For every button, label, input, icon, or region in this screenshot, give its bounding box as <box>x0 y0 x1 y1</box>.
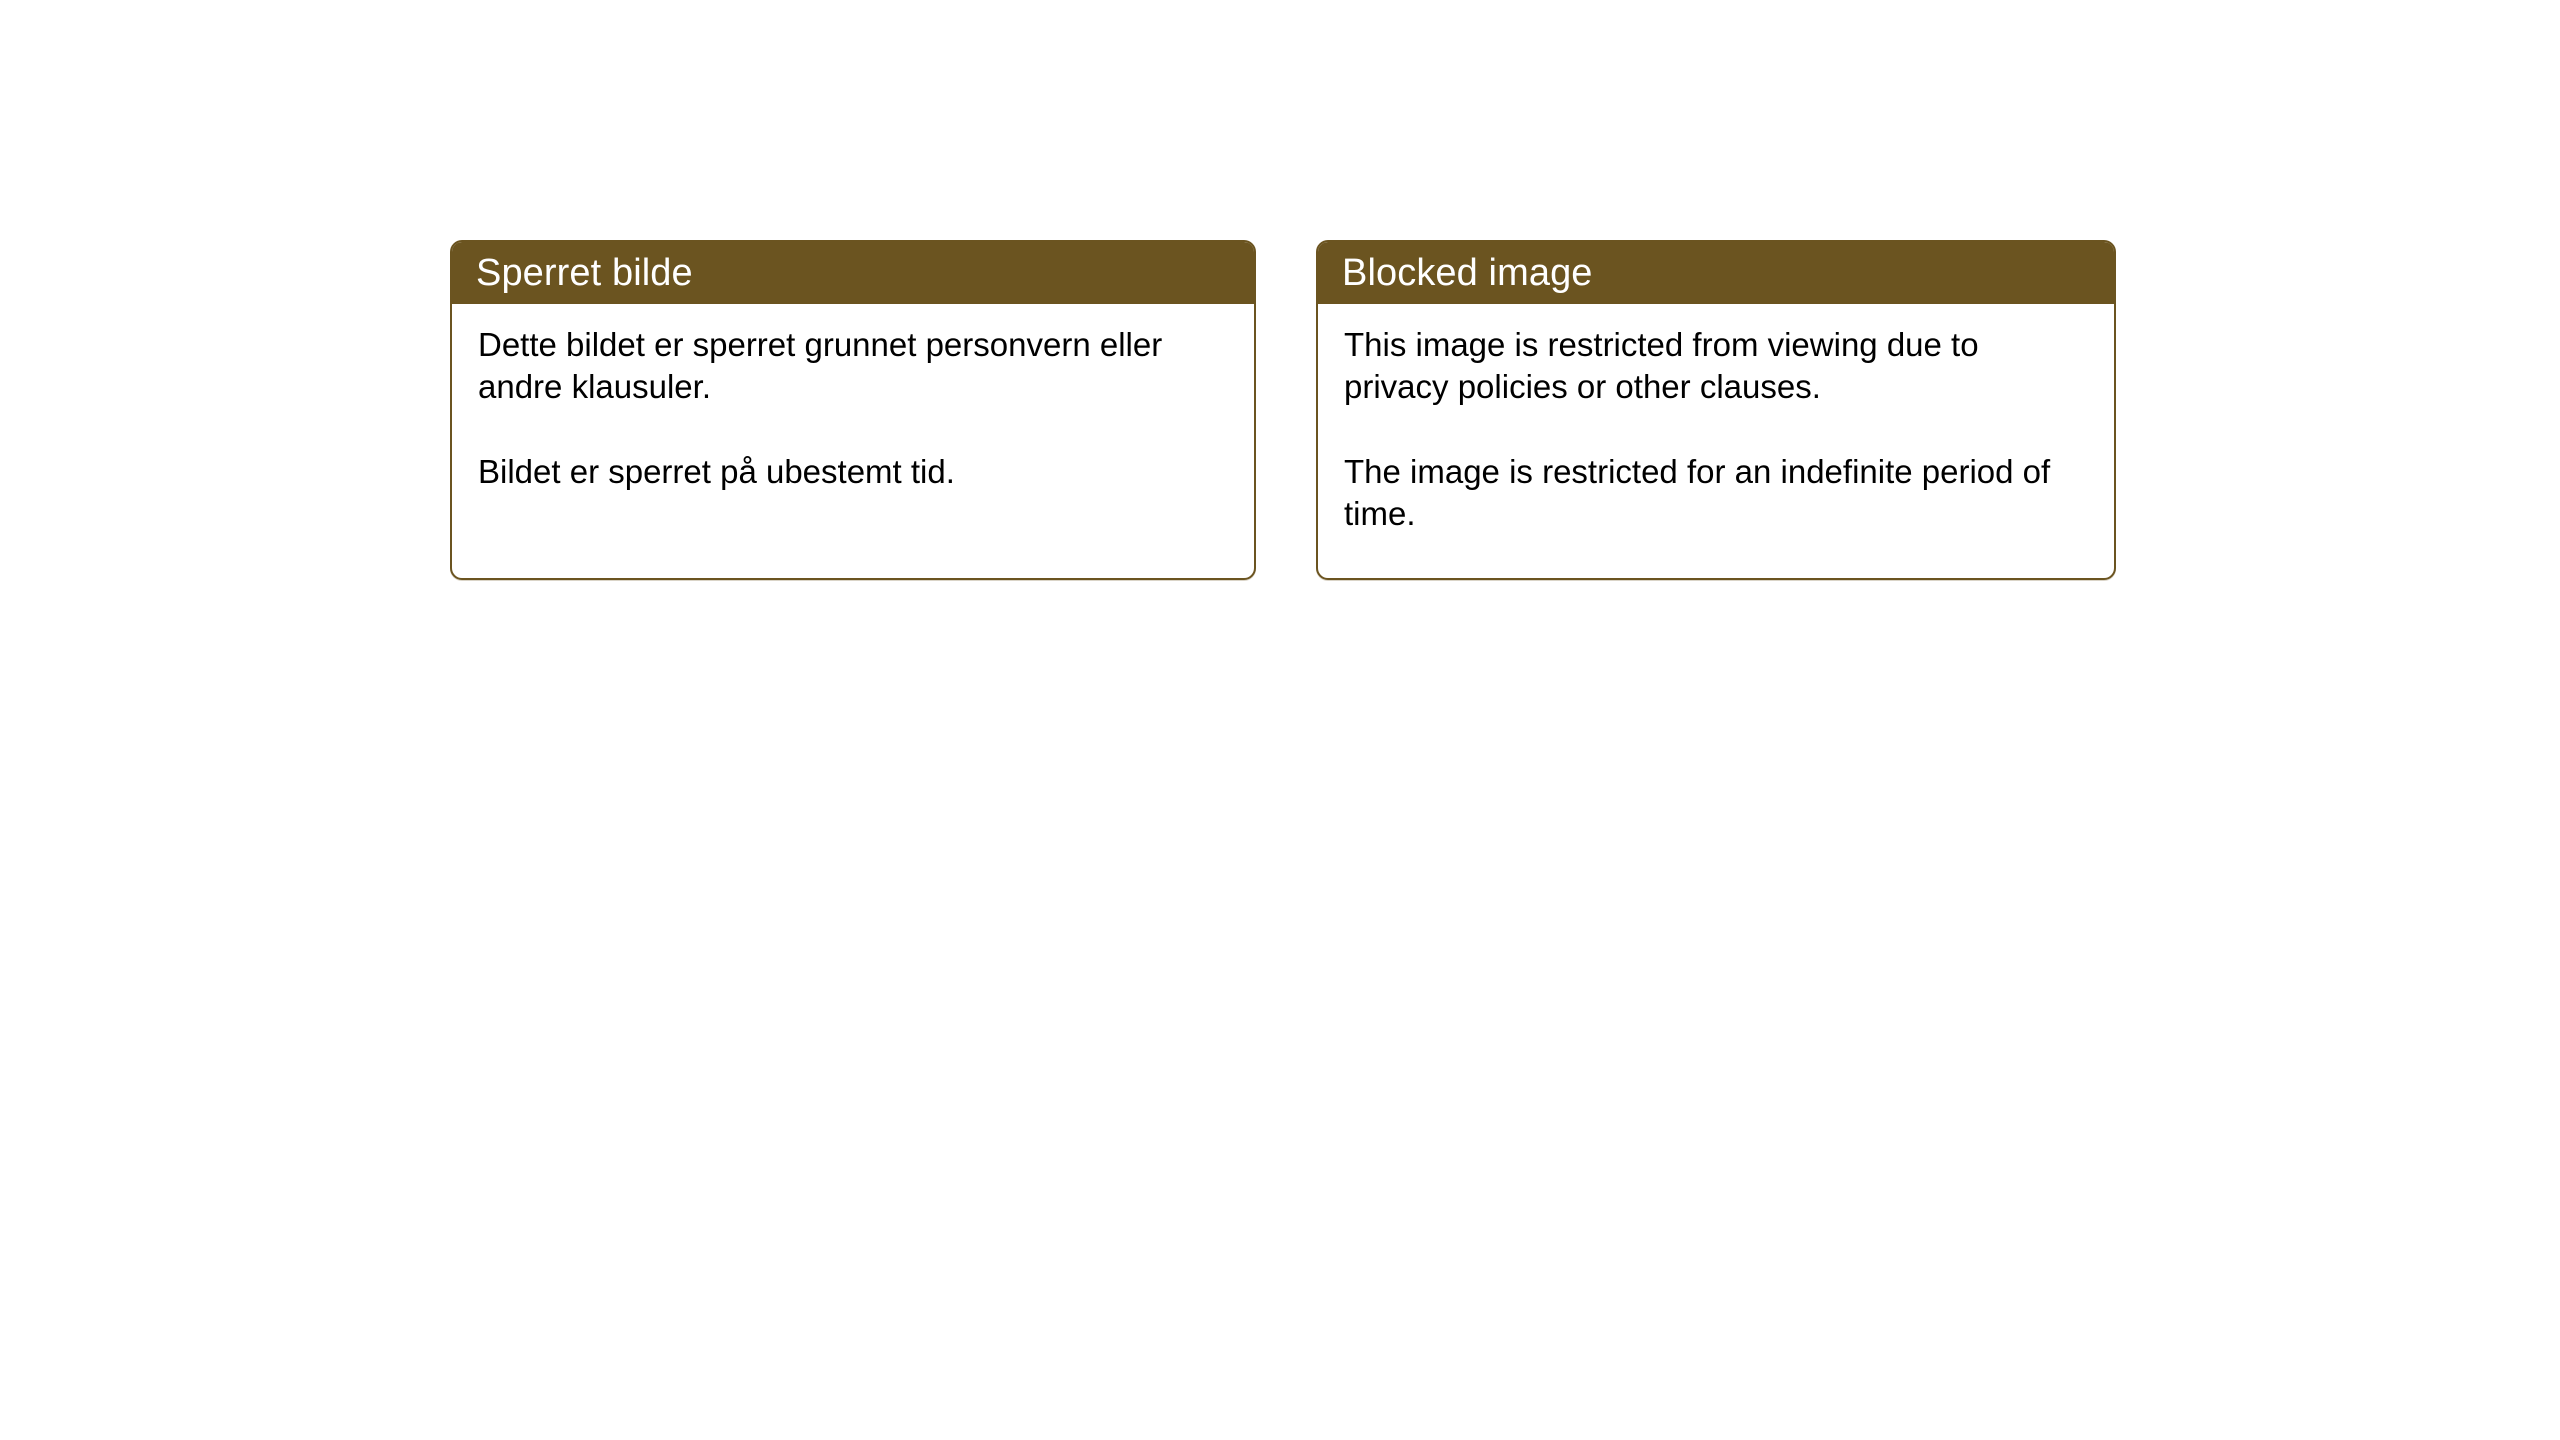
page-canvas: Sperret bilde Dette bildet er sperret gr… <box>0 0 2560 1440</box>
card-paragraph-reason-norwegian: Dette bildet er sperret grunnet personve… <box>478 324 1228 407</box>
blocked-image-card-english: Blocked image This image is restricted f… <box>1316 240 2116 580</box>
card-title-norwegian: Sperret bilde <box>476 254 693 292</box>
card-body-english: This image is restricted from viewing du… <box>1318 304 2114 558</box>
card-paragraph-reason-english: This image is restricted from viewing du… <box>1344 324 2088 407</box>
card-title-english: Blocked image <box>1342 254 1593 292</box>
card-paragraph-duration-english: The image is restricted for an indefinit… <box>1344 451 2088 534</box>
blocked-image-card-norwegian: Sperret bilde Dette bildet er sperret gr… <box>450 240 1256 580</box>
card-body-norwegian: Dette bildet er sperret grunnet personve… <box>452 304 1254 517</box>
card-header-english: Blocked image <box>1318 242 2114 304</box>
card-header-norwegian: Sperret bilde <box>452 242 1254 304</box>
card-paragraph-duration-norwegian: Bildet er sperret på ubestemt tid. <box>478 451 1228 493</box>
